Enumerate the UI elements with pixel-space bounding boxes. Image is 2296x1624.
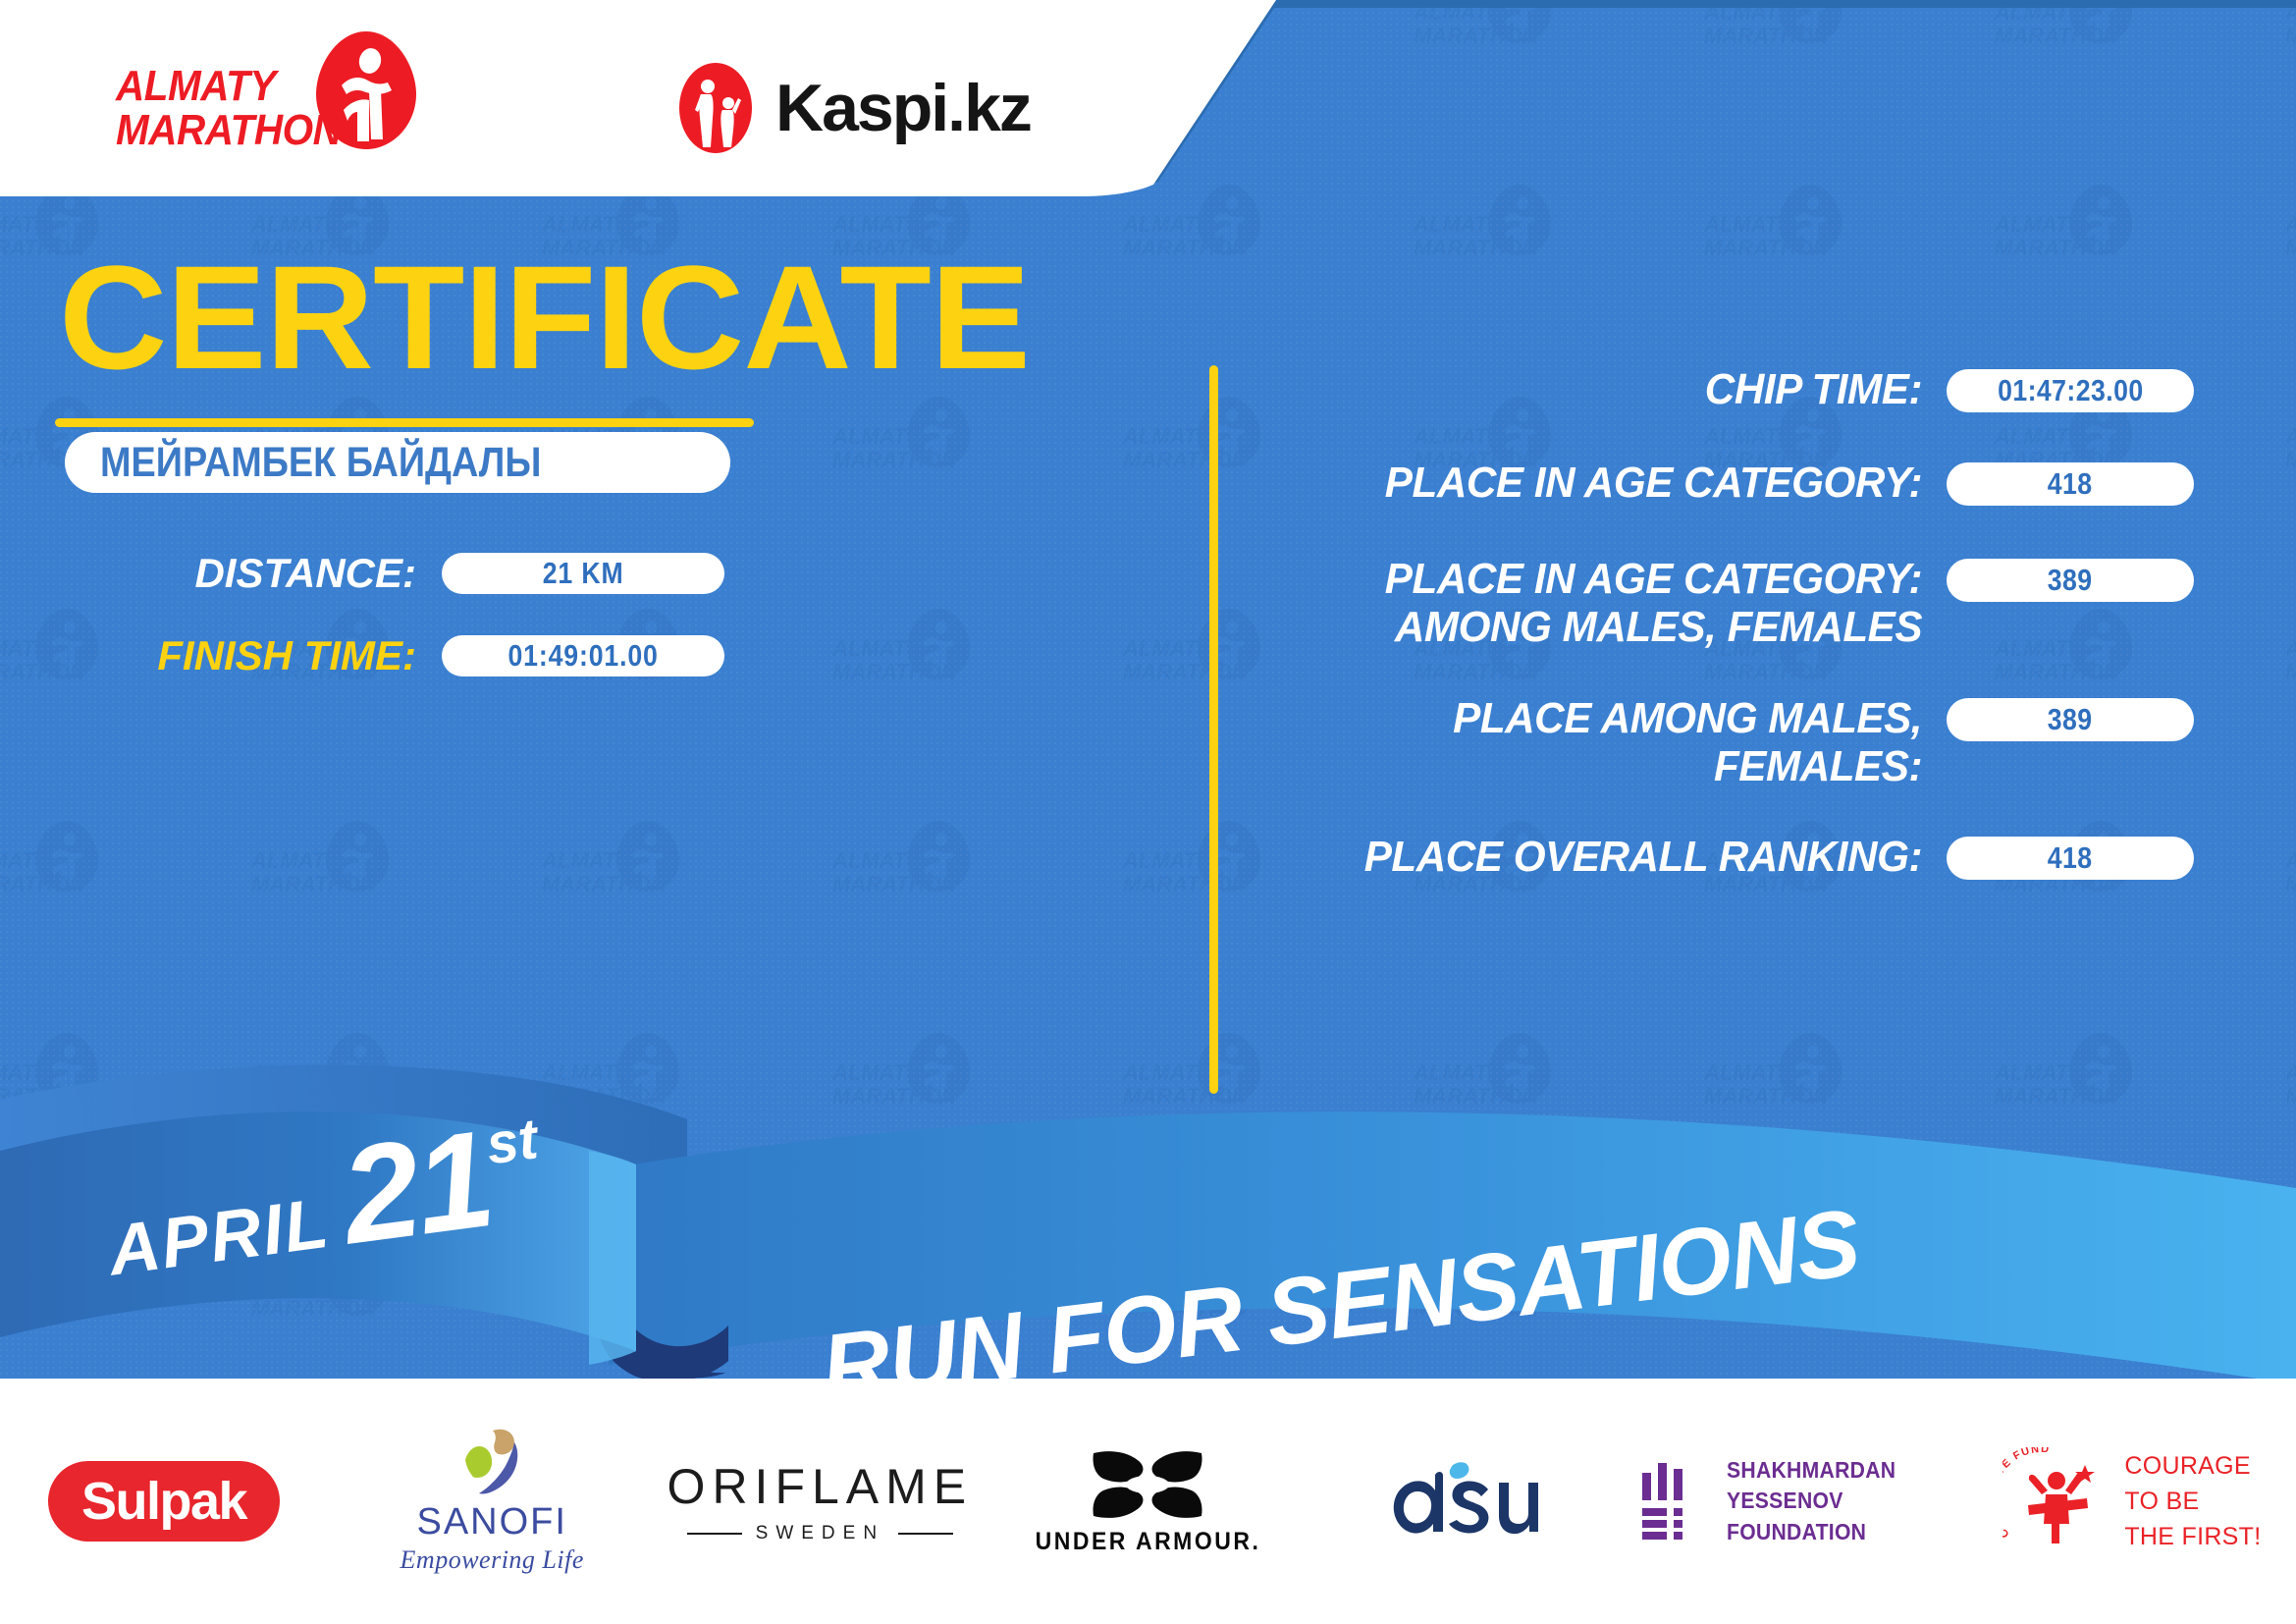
event-month: APRIL <box>104 1183 335 1292</box>
oriflame-rule-left <box>687 1533 742 1535</box>
place-age-category-label: PLACE IN AGE CATEGORY: <box>1289 459 1947 507</box>
courage-fund-wordmark: COURAGE TO BE THE FIRST! <box>2124 1448 2261 1555</box>
stat-row-chip-time: CHIP TIME: 01:47:23.00 <box>1261 365 2194 413</box>
stat-row-place-age-category-among: PLACE IN AGE CATEGORY: AMONG MALES, FEMA… <box>1261 555 2194 652</box>
sponsor-courage-fund: CORPORATE FUND COURAGE TO BE <box>1968 1428 2296 1575</box>
oriflame-sub: SWEDEN <box>667 1523 974 1544</box>
place-age-category-among-value-pill: 389 <box>1947 559 2194 602</box>
stat-row-finish-time: FINISH TIME: 01:49:01.00 <box>0 615 1178 697</box>
courage-runner-icon: CORPORATE FUND <box>2002 1447 2110 1555</box>
place-age-category-value: 418 <box>2048 466 2093 502</box>
distance-label: DISTANCE: <box>0 550 442 597</box>
distance-value-pill: 21 KM <box>442 553 724 594</box>
sponsor-list: Sulpak SANOFI Empowering Life <box>0 1379 2296 1624</box>
marathon-line: MARATHON <box>116 109 341 153</box>
sponsor-oriflame: ORIFLAME SWEDEN <box>656 1428 984 1575</box>
stat-row-place-overall-ranking: PLACE OVERALL RANKING: 418 <box>1261 833 2194 881</box>
place-overall-ranking-label: PLACE OVERALL RANKING: <box>1289 833 1947 881</box>
place-among-males-females-value-pill: 389 <box>1947 698 2194 741</box>
place-age-category-among-label: PLACE IN AGE CATEGORY: AMONG MALES, FEMA… <box>1289 555 1947 652</box>
sponsor-yessenov-foundation: SHAKHMARDAN YESSENOV FOUNDATION <box>1640 1428 1968 1575</box>
place-among-males-females-label: PLACE AMONG MALES, FEMALES: <box>1289 694 1947 791</box>
event-day-suffix: st <box>483 1106 542 1177</box>
chip-time-value-pill: 01:47:23.00 <box>1947 369 2194 412</box>
sanofi-logo: SANOFI Empowering Life <box>400 1429 584 1575</box>
page-title: CERTIFICATE <box>59 244 1030 391</box>
chip-time-value: 01:47:23.00 <box>1998 373 2144 408</box>
sanofi-wordmark: SANOFI <box>416 1501 566 1543</box>
sponsor-asu <box>1312 1428 1640 1575</box>
finish-time-label: FINISH TIME: <box>0 632 442 679</box>
yessenov-bars-icon <box>1640 1463 1705 1540</box>
almaty-line: ALMATY <box>116 65 341 109</box>
sanofi-tagline: Empowering Life <box>400 1545 584 1575</box>
yessenov-line2: FOUNDATION <box>1727 1517 1949 1547</box>
courage-line3: THE FIRST! <box>2124 1519 2261 1554</box>
oriflame-rule-right <box>898 1533 953 1535</box>
yessenov-wordmark: SHAKHMARDAN YESSENOV FOUNDATION <box>1727 1455 1949 1546</box>
kaspi-logo: Kaspi.kz <box>677 61 1031 155</box>
sponsor-footer: Sulpak SANOFI Empowering Life <box>0 1379 2296 1624</box>
stat-row-distance: DISTANCE: 21 KM <box>0 532 1178 615</box>
stat-row-place-among-males-females: PLACE AMONG MALES, FEMALES: 389 <box>1261 694 2194 791</box>
certificate-page: ALMATYMARATHONALMATYMARATHONALMATYMARATH… <box>0 0 2296 1624</box>
sanofi-swirl-icon <box>450 1429 534 1499</box>
sulpak-logo: Sulpak <box>48 1461 280 1542</box>
kaspi-wordmark: Kaspi.kz <box>775 70 1031 146</box>
place-age-category-among-value: 389 <box>2048 563 2093 598</box>
participant-name-field: МЕЙРАМБЕК БАЙДАЛЫ <box>65 432 730 493</box>
place-overall-ranking-value-pill: 418 <box>1947 837 2194 880</box>
svg-text:CORPORATE FUND: CORPORATE FUND <box>2002 1447 2051 1540</box>
finish-time-value-pill: 01:49:01.00 <box>442 635 724 677</box>
courage-line2: TO BE <box>2124 1484 2261 1519</box>
sponsor-sulpak: Sulpak <box>0 1428 328 1575</box>
courage-line1: COURAGE <box>2124 1448 2261 1484</box>
finish-time-value: 01:49:01.00 <box>507 638 658 674</box>
under-armour-logo: UNDER ARMOUR. <box>1036 1449 1261 1554</box>
oriflame-tagline: SWEDEN <box>756 1523 884 1544</box>
right-stats-list: CHIP TIME: 01:47:23.00 PLACE IN AGE CATE… <box>1261 365 2194 914</box>
yessenov-logo: SHAKHMARDAN YESSENOV FOUNDATION <box>1640 1455 1968 1546</box>
chip-time-label: CHIP TIME: <box>1289 365 1947 413</box>
asu-logo <box>1388 1459 1565 1543</box>
almaty-marathon-wordmark: ALMATY MARATHON <box>116 65 341 153</box>
participant-name-value: МЕЙРАМБЕК БАЙДАЛЫ <box>100 439 541 487</box>
stat-row-place-age-category: PLACE IN AGE CATEGORY: 418 <box>1261 459 2194 507</box>
distance-value: 21 KM <box>543 556 624 591</box>
courage-fund-logo: CORPORATE FUND COURAGE TO BE <box>2002 1447 2261 1555</box>
place-age-category-value-pill: 418 <box>1947 462 2194 506</box>
sponsor-sanofi: SANOFI Empowering Life <box>328 1428 656 1575</box>
yessenov-line1: SHAKHMARDAN YESSENOV <box>1727 1455 1949 1516</box>
sulpak-wordmark: Sulpak <box>81 1471 246 1532</box>
place-among-males-females-value: 389 <box>2048 702 2093 737</box>
under-armour-icon <box>1090 1449 1205 1520</box>
title-underline <box>55 418 754 427</box>
oriflame-logo: ORIFLAME SWEDEN <box>667 1458 974 1544</box>
sponsor-under-armour: UNDER ARMOUR. <box>984 1428 1311 1575</box>
left-stats-list: DISTANCE: 21 KM FINISH TIME: 01:49:01.00 <box>0 532 1178 697</box>
event-day: 21 <box>333 1099 500 1275</box>
under-armour-wordmark: UNDER ARMOUR. <box>1036 1526 1261 1555</box>
oriflame-wordmark: ORIFLAME <box>667 1458 974 1515</box>
vertical-divider <box>1209 365 1218 1094</box>
kaspi-people-icon <box>677 61 754 155</box>
place-overall-ranking-value: 418 <box>2048 840 2093 876</box>
almaty-marathon-logo: ALMATY MARATHON <box>116 47 440 165</box>
